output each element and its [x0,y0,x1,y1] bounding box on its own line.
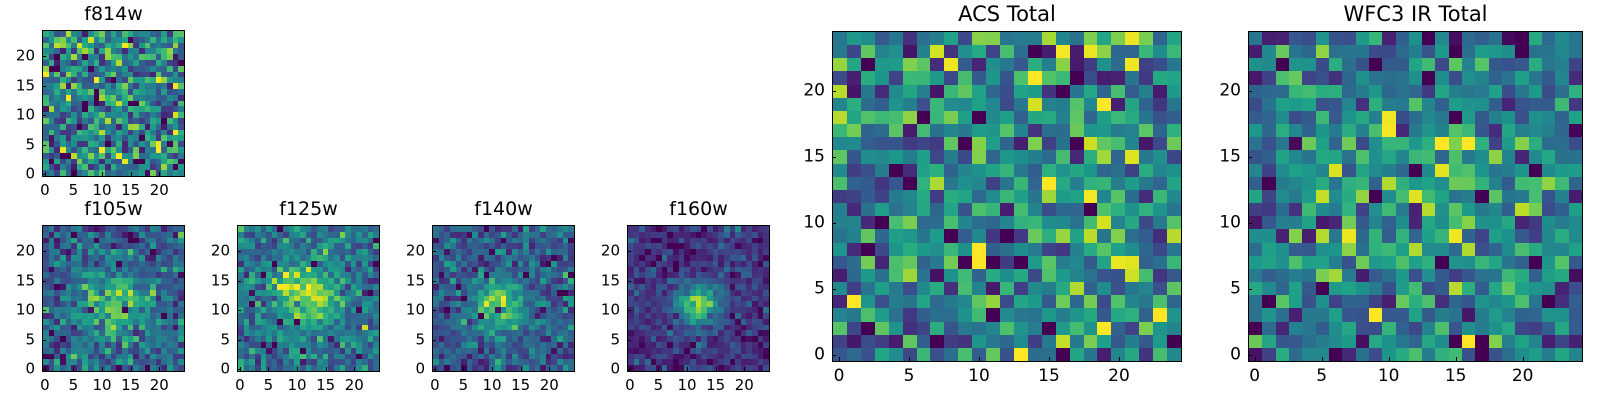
x-tick-f140w-2 [492,367,493,371]
y-tick-f140w-4 [432,251,436,252]
axes-f160w[interactable] [627,225,770,372]
x-tick-acs-total-1 [909,357,910,361]
y-ticklabel-f125w-0: 0 [190,362,230,377]
x-ticklabel-f814w-2: 10 [93,183,112,198]
panel-title-f160w: f160w [627,200,770,219]
y-tick-f140w-0 [432,369,436,370]
x-tick-f814w-4 [159,172,160,176]
y-tick-f125w-0 [237,369,241,370]
y-tick-f814w-3 [42,86,46,87]
y-tick-f105w-3 [42,281,46,282]
panel-wfc3-ir-total: WFC3 IR Total0510152005101520 [1248,31,1583,362]
x-tick-f160w-4 [744,367,745,371]
y-ticklabel-f140w-4: 20 [385,244,425,259]
axes-f105w[interactable] [42,225,185,372]
y-tick-acs-total-4 [832,91,836,92]
heatmap-acs-total [833,32,1181,361]
x-tick-f814w-3 [131,172,132,176]
x-ticklabel-f125w-3: 15 [316,378,335,393]
x-ticklabel-f105w-3: 15 [121,378,140,393]
y-ticklabel-f814w-1: 5 [0,137,35,152]
panel-title-f140w: f140w [432,200,575,219]
y-tick-f814w-1 [42,145,46,146]
y-ticklabel-wfc3-ir-total-1: 5 [1201,281,1241,298]
x-ticklabel-wfc3-ir-total-3: 15 [1445,368,1467,385]
y-ticklabel-f125w-1: 5 [190,332,230,347]
y-ticklabel-f125w-3: 15 [190,273,230,288]
x-tick-f105w-1 [73,367,74,371]
x-ticklabel-f814w-0: 0 [40,183,50,198]
x-ticklabel-f160w-1: 5 [654,378,664,393]
x-ticklabel-f125w-2: 10 [288,378,307,393]
y-tick-f160w-0 [627,369,631,370]
y-ticklabel-f160w-3: 15 [580,273,620,288]
y-tick-f160w-3 [627,281,631,282]
y-tick-f125w-2 [237,310,241,311]
y-tick-f814w-2 [42,115,46,116]
y-tick-f160w-2 [627,310,631,311]
y-ticklabel-f814w-2: 10 [0,108,35,123]
x-ticklabel-f140w-1: 5 [459,378,469,393]
x-tick-f105w-4 [159,367,160,371]
panel-f105w: f105w0510152005101520 [42,225,185,372]
x-ticklabel-f814w-3: 15 [121,183,140,198]
panel-title-acs-total: ACS Total [832,4,1182,25]
x-tick-f814w-2 [102,172,103,176]
x-ticklabel-f140w-0: 0 [430,378,440,393]
panel-f125w: f125w0510152005101520 [237,225,380,372]
y-tick-acs-total-1 [832,289,836,290]
y-ticklabel-f160w-2: 10 [580,303,620,318]
y-ticklabel-f105w-0: 0 [0,362,35,377]
y-tick-wfc3-ir-total-3 [1248,157,1252,158]
x-ticklabel-f160w-2: 10 [678,378,697,393]
y-tick-acs-total-3 [832,157,836,158]
y-tick-wfc3-ir-total-1 [1248,289,1252,290]
x-tick-f125w-2 [297,367,298,371]
x-tick-f125w-1 [268,367,269,371]
y-tick-acs-total-0 [832,355,836,356]
y-tick-f105w-1 [42,340,46,341]
y-ticklabel-f160w-0: 0 [580,362,620,377]
x-tick-f125w-4 [354,367,355,371]
x-tick-f105w-2 [102,367,103,371]
y-ticklabel-f814w-0: 0 [0,167,35,182]
x-tick-f814w-1 [73,172,74,176]
x-ticklabel-f105w-0: 0 [40,378,50,393]
y-ticklabel-f160w-4: 20 [580,244,620,259]
x-ticklabel-f140w-3: 15 [511,378,530,393]
x-ticklabel-f125w-1: 5 [264,378,274,393]
x-ticklabel-f125w-0: 0 [235,378,245,393]
x-ticklabel-wfc3-ir-total-1: 5 [1316,368,1327,385]
axes-wfc3-ir-total[interactable] [1248,31,1583,362]
x-tick-wfc3-ir-total-4 [1523,357,1524,361]
axes-f814w[interactable] [42,30,185,177]
y-ticklabel-f140w-3: 15 [385,273,425,288]
x-ticklabel-f105w-2: 10 [93,378,112,393]
y-ticklabel-wfc3-ir-total-0: 0 [1201,347,1241,364]
y-ticklabel-acs-total-4: 20 [785,82,825,99]
x-ticklabel-f160w-4: 20 [735,378,754,393]
axes-f140w[interactable] [432,225,575,372]
y-ticklabel-wfc3-ir-total-4: 20 [1201,82,1241,99]
y-ticklabel-f105w-1: 5 [0,332,35,347]
panel-title-wfc3-ir-total: WFC3 IR Total [1248,4,1583,25]
x-tick-f140w-1 [463,367,464,371]
axes-acs-total[interactable] [832,31,1182,362]
y-ticklabel-f140w-2: 10 [385,303,425,318]
y-tick-f160w-1 [627,340,631,341]
y-tick-wfc3-ir-total-4 [1248,91,1252,92]
x-ticklabel-acs-total-0: 0 [834,368,845,385]
y-ticklabel-wfc3-ir-total-3: 15 [1201,148,1241,165]
x-tick-acs-total-0 [839,357,840,361]
x-tick-acs-total-4 [1119,357,1120,361]
panel-f160w: f160w0510152005101520 [627,225,770,372]
x-ticklabel-acs-total-1: 5 [904,368,915,385]
x-tick-f160w-3 [716,367,717,371]
heatmap-f105w [43,226,184,371]
x-tick-f140w-3 [521,367,522,371]
x-tick-wfc3-ir-total-1 [1322,357,1323,361]
x-ticklabel-wfc3-ir-total-4: 20 [1512,368,1534,385]
x-ticklabel-f125w-4: 20 [345,378,364,393]
y-ticklabel-acs-total-3: 15 [785,148,825,165]
y-ticklabel-f814w-4: 20 [0,49,35,64]
panel-title-f105w: f105w [42,200,185,219]
y-ticklabel-acs-total-2: 10 [785,214,825,231]
x-ticklabel-f105w-4: 20 [150,378,169,393]
y-ticklabel-f105w-2: 10 [0,303,35,318]
heatmap-f814w [43,31,184,176]
y-tick-f125w-4 [237,251,241,252]
y-tick-f105w-0 [42,369,46,370]
x-ticklabel-wfc3-ir-total-2: 10 [1378,368,1400,385]
x-ticklabel-acs-total-4: 20 [1108,368,1130,385]
heatmap-f160w [628,226,769,371]
panel-f140w: f140w0510152005101520 [432,225,575,372]
heatmap-f140w [433,226,574,371]
x-ticklabel-f105w-1: 5 [69,378,79,393]
panel-f814w: f814w0510152005101520 [42,30,185,177]
x-tick-wfc3-ir-total-0 [1255,357,1256,361]
y-ticklabel-f125w-2: 10 [190,303,230,318]
y-tick-f814w-0 [42,174,46,175]
figure-canvas: f814w0510152005101520f105w05101520051015… [0,0,1600,400]
x-ticklabel-f160w-0: 0 [625,378,635,393]
axes-f125w[interactable] [237,225,380,372]
y-tick-wfc3-ir-total-0 [1248,355,1252,356]
heatmap-f125w [238,226,379,371]
y-ticklabel-f105w-4: 20 [0,244,35,259]
y-ticklabel-f814w-3: 15 [0,78,35,93]
y-ticklabel-f140w-1: 5 [385,332,425,347]
x-tick-f160w-2 [687,367,688,371]
x-ticklabel-f814w-1: 5 [69,183,79,198]
x-tick-wfc3-ir-total-3 [1456,357,1457,361]
x-tick-f160w-1 [658,367,659,371]
y-tick-f814w-4 [42,56,46,57]
y-tick-f105w-2 [42,310,46,311]
y-ticklabel-acs-total-0: 0 [785,347,825,364]
y-ticklabel-acs-total-1: 5 [785,281,825,298]
y-ticklabel-f140w-0: 0 [385,362,425,377]
x-tick-f105w-3 [131,367,132,371]
y-tick-f105w-4 [42,251,46,252]
x-ticklabel-f814w-4: 20 [150,183,169,198]
panel-acs-total: ACS Total0510152005101520 [832,31,1182,362]
heatmap-wfc3-ir-total [1249,32,1582,361]
panel-title-f125w: f125w [237,200,380,219]
x-tick-acs-total-3 [1049,357,1050,361]
x-tick-acs-total-2 [979,357,980,361]
x-tick-wfc3-ir-total-2 [1389,357,1390,361]
x-ticklabel-f160w-3: 15 [706,378,725,393]
y-tick-acs-total-2 [832,223,836,224]
y-tick-f125w-1 [237,340,241,341]
x-tick-f125w-3 [326,367,327,371]
x-ticklabel-acs-total-2: 10 [968,368,990,385]
y-tick-f140w-2 [432,310,436,311]
x-ticklabel-wfc3-ir-total-0: 0 [1249,368,1260,385]
y-ticklabel-f160w-1: 5 [580,332,620,347]
y-ticklabel-wfc3-ir-total-2: 10 [1201,214,1241,231]
y-ticklabel-f125w-4: 20 [190,244,230,259]
y-tick-f125w-3 [237,281,241,282]
y-ticklabel-f105w-3: 15 [0,273,35,288]
y-tick-f140w-1 [432,340,436,341]
x-ticklabel-f140w-2: 10 [483,378,502,393]
y-tick-f160w-4 [627,251,631,252]
x-ticklabel-acs-total-3: 15 [1038,368,1060,385]
x-tick-f140w-4 [549,367,550,371]
panel-title-f814w: f814w [42,5,185,24]
y-tick-f140w-3 [432,281,436,282]
x-ticklabel-f140w-4: 20 [540,378,559,393]
y-tick-wfc3-ir-total-2 [1248,223,1252,224]
